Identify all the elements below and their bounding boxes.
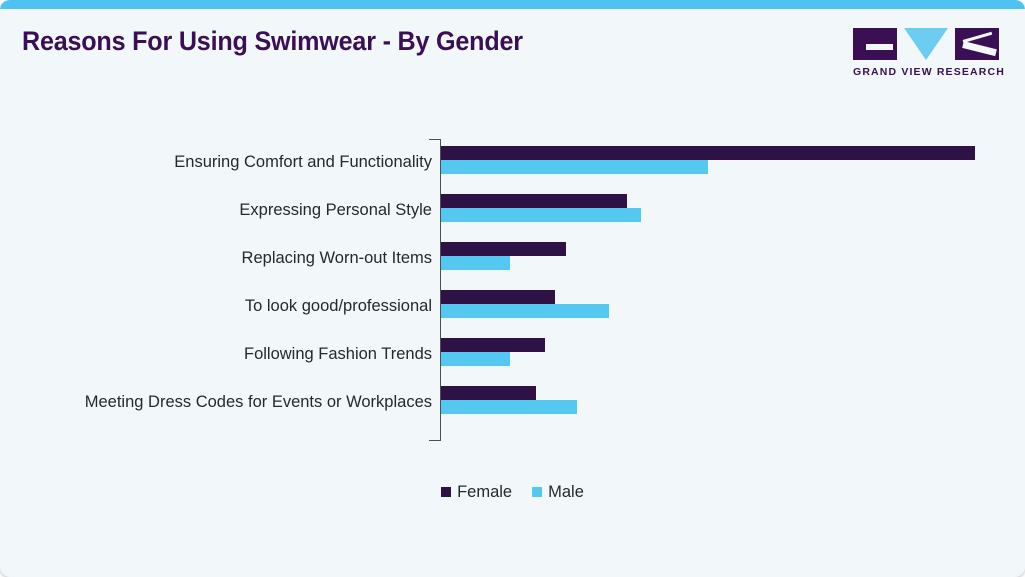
legend-swatch-icon xyxy=(532,487,542,497)
legend-swatch-icon xyxy=(441,487,451,497)
logo-marks xyxy=(853,28,999,60)
bar-male xyxy=(441,304,609,318)
legend-item-female[interactable]: Female xyxy=(441,483,512,502)
bar-male xyxy=(441,208,641,222)
bar-female xyxy=(441,194,627,208)
category-label: Following Fashion Trends xyxy=(0,346,432,363)
axis-tick-top xyxy=(429,139,441,140)
top-accent-bar xyxy=(0,0,1025,9)
page-title: Reasons For Using Swimwear - By Gender xyxy=(22,26,523,57)
category-label: To look good/professional xyxy=(0,298,432,315)
bar-male xyxy=(441,400,577,414)
logo-v-triangle-icon xyxy=(904,28,948,60)
bar-female xyxy=(441,386,536,400)
category-label: Ensuring Comfort and Functionality xyxy=(0,154,432,171)
bar-chart: Ensuring Comfort and FunctionalityExpres… xyxy=(0,120,1025,460)
chart-legend: FemaleMale xyxy=(0,483,1025,502)
slide-canvas: Reasons For Using Swimwear - By Gender G… xyxy=(0,0,1025,577)
bar-female xyxy=(441,338,545,352)
bar-male xyxy=(441,160,708,174)
logo-wordmark: GRAND VIEW RESEARCH xyxy=(853,66,999,78)
category-axis-labels: Ensuring Comfort and FunctionalityExpres… xyxy=(0,120,432,442)
legend-item-male[interactable]: Male xyxy=(532,483,584,502)
category-label: Replacing Worn-out Items xyxy=(0,250,432,267)
brand-logo: GRAND VIEW RESEARCH xyxy=(853,28,999,78)
axis-tick-bottom xyxy=(429,440,441,441)
plot-area xyxy=(441,120,1001,442)
legend-label: Female xyxy=(457,483,512,501)
category-label: Expressing Personal Style xyxy=(0,202,432,219)
bar-male xyxy=(441,256,510,270)
logo-r-icon xyxy=(955,28,999,60)
category-label: Meeting Dress Codes for Events or Workpl… xyxy=(0,394,432,411)
legend-label: Male xyxy=(548,483,584,501)
bar-female xyxy=(441,242,566,256)
logo-g-icon xyxy=(853,28,897,60)
bar-male xyxy=(441,352,510,366)
bar-female xyxy=(441,290,555,304)
bar-female xyxy=(441,146,975,160)
